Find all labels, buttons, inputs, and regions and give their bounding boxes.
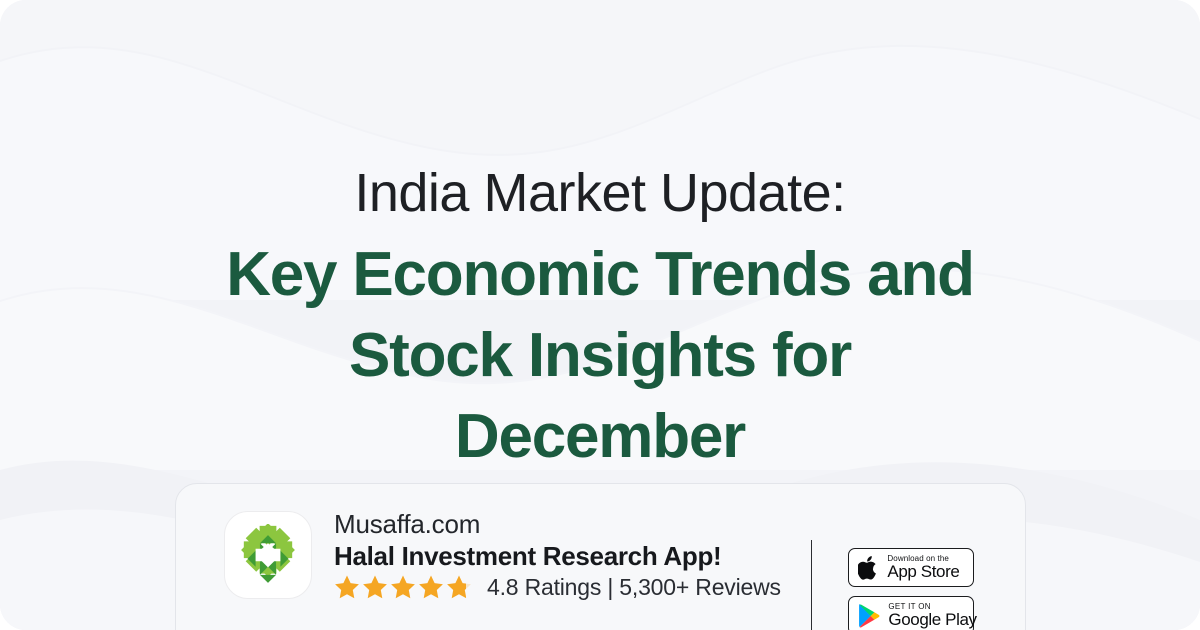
apple-logo-icon xyxy=(858,555,880,581)
app-promo-card: Musaffa.com Halal Investment Research Ap… xyxy=(175,483,1026,630)
google-play-badge-copy: GET IT ON Google Play xyxy=(888,602,976,629)
app-store-badge-copy: Download on the App Store xyxy=(887,554,959,581)
page-title: Key Economic Trends and Stock Insights f… xyxy=(90,234,1110,477)
google-play-logo-icon xyxy=(858,603,881,628)
promo-text-group: Musaffa.com Halal Investment Research Ap… xyxy=(334,509,781,601)
page-title-line-2: Stock Insights for xyxy=(90,315,1110,396)
promo-brand-group: Musaffa.com Halal Investment Research Ap… xyxy=(224,503,781,607)
rating-text: 4.8 Ratings | 5,300+ Reviews xyxy=(487,574,781,601)
title-block: India Market Update: Key Economic Trends… xyxy=(0,160,1200,477)
google-play-badge[interactable]: GET IT ON Google Play xyxy=(848,596,974,630)
page-title-line-3: December xyxy=(90,396,1110,477)
google-play-badge-big-label: Google Play xyxy=(888,611,976,629)
app-store-badge[interactable]: Download on the App Store xyxy=(848,548,974,587)
promo-divider xyxy=(811,540,813,630)
star-icon xyxy=(391,576,415,599)
star-icon xyxy=(363,576,387,599)
star-icon xyxy=(335,576,359,599)
brand-tagline: Halal Investment Research App! xyxy=(334,540,781,572)
app-logo-tile xyxy=(224,511,312,599)
star-icon xyxy=(447,576,471,599)
rating-row: 4.8 Ratings | 5,300+ Reviews xyxy=(334,574,781,601)
star-rating-icons xyxy=(334,574,480,601)
page-title-line-1: Key Economic Trends and xyxy=(90,234,1110,315)
store-badges-group: Download on the App Store GET IT ON Goog… xyxy=(848,548,974,630)
brand-name: Musaffa.com xyxy=(334,509,781,540)
app-store-badge-big-label: App Store xyxy=(887,563,959,581)
page-eyebrow-title: India Market Update: xyxy=(90,160,1110,226)
star-icon xyxy=(419,576,443,599)
marketing-banner: India Market Update: Key Economic Trends… xyxy=(0,0,1200,630)
musaffa-star-rosette-logo-icon xyxy=(237,524,299,586)
